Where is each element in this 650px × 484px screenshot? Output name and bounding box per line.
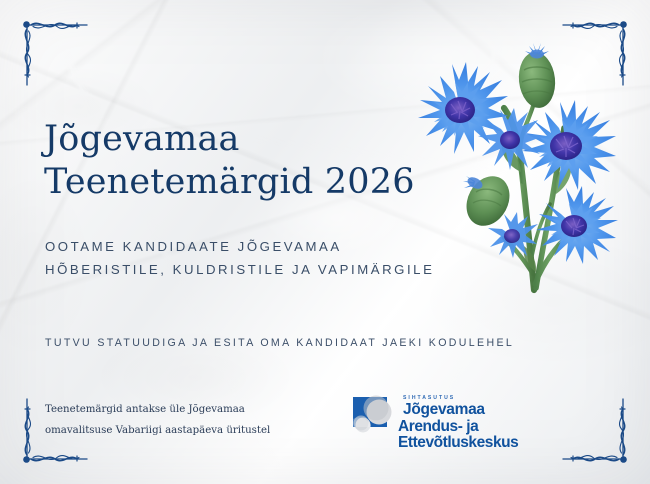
- poster-call-to-action: TUTVU STATUUDIGA JA ESITA OMA KANDIDAAT …: [45, 337, 514, 349]
- cornflower-bud-upper: [516, 43, 558, 110]
- page-title: Jõgevamaa Teenetemärgid 2026: [44, 118, 415, 203]
- organisation-logo: SIHTASUTUS Jõgevamaa Arendus- ja Ettevõt…: [352, 393, 602, 443]
- logo-line-2: Arendus- ja Ettevõtluskeskus: [398, 419, 602, 452]
- corner-flourish-icon-top-left: [11, 9, 89, 87]
- logo-wordmark: SIHTASUTUS Jõgevamaa Arendus- ja Ettevõt…: [399, 393, 602, 451]
- logo-mark-icon: [352, 395, 394, 437]
- poster-footnote: Teenetemärgid antakse üle Jõgevamaa omav…: [45, 400, 270, 442]
- poster-subtitle: OOTAME KANDIDAATE JÕGEVAMAA HÕBERISTILE,…: [45, 235, 434, 281]
- poster-canvas: Jõgevamaa Teenetemärgid 2026 OOTAME KAND…: [0, 0, 650, 484]
- logo-line-1: Jõgevamaa: [403, 402, 602, 418]
